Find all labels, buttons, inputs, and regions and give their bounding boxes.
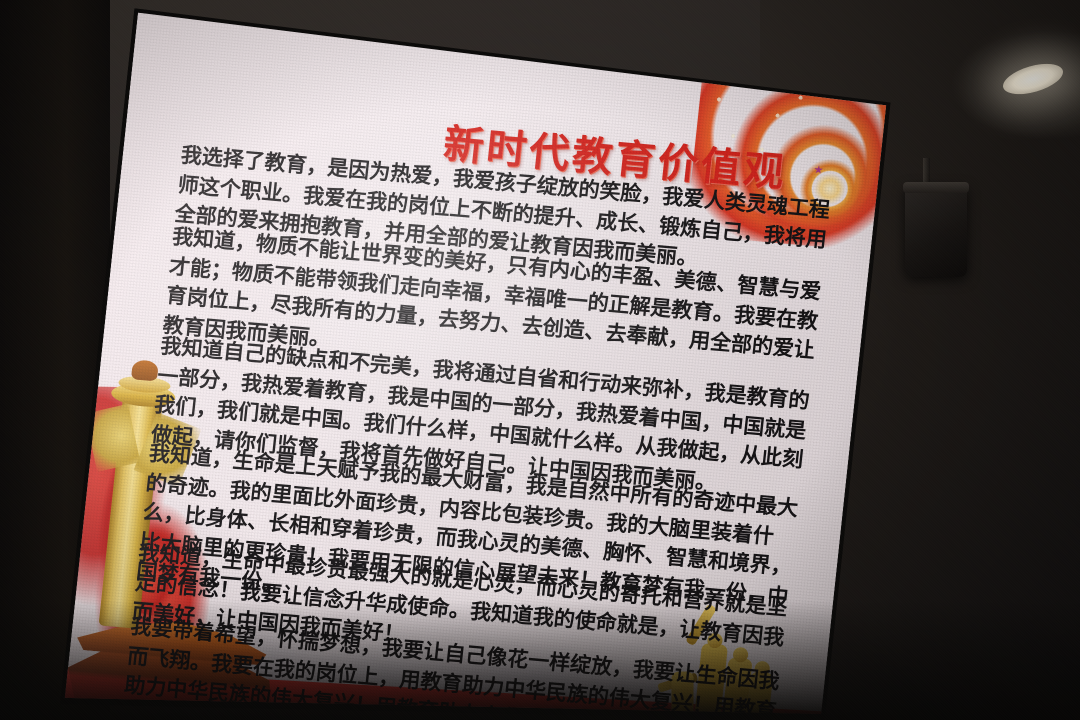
photo-scene: 新时代教育价值观 我选择了教育，是因为热爱，我爱孩子绽放的笑脸，我爱人类灵魂工程… [0,0,1080,720]
floor-shadow [0,600,1080,720]
speaker-top [903,182,969,193]
wall-speaker-icon [905,185,967,277]
